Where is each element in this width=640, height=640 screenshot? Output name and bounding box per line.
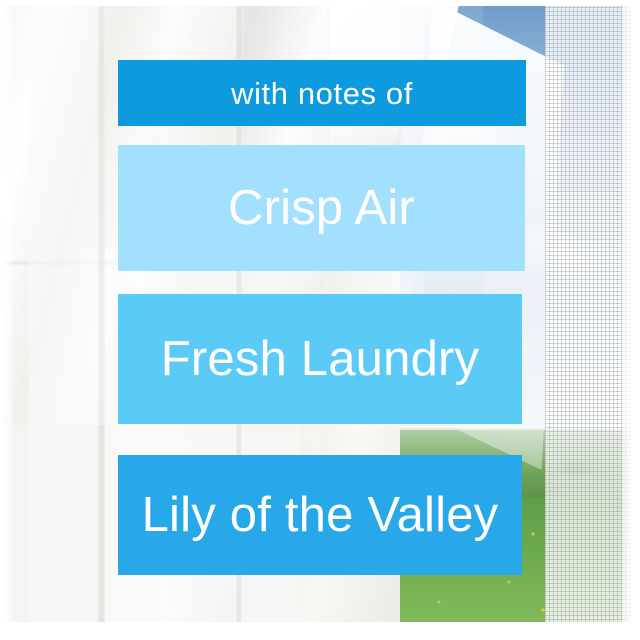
left-white-margin: [0, 0, 14, 640]
top-white-margin: [0, 0, 640, 6]
bottom-white-margin: [0, 622, 640, 640]
band-notes-of: with notes of: [118, 60, 526, 126]
band-crisp-air-label: Crisp Air: [228, 184, 415, 233]
band-crisp-air: Crisp Air: [118, 145, 525, 271]
scent-notes-graphic: with notes of Crisp Air Fresh Laundry Li…: [0, 0, 640, 640]
mesh-edge-fade: [622, 0, 640, 640]
band-notes-of-label: with notes of: [231, 78, 413, 109]
band-fresh-laundry-label: Fresh Laundry: [161, 335, 480, 384]
band-fresh-laundry: Fresh Laundry: [118, 294, 522, 424]
band-lily-of-the-valley-label: Lily of the Valley: [142, 491, 499, 540]
band-lily-of-the-valley: Lily of the Valley: [118, 455, 522, 575]
